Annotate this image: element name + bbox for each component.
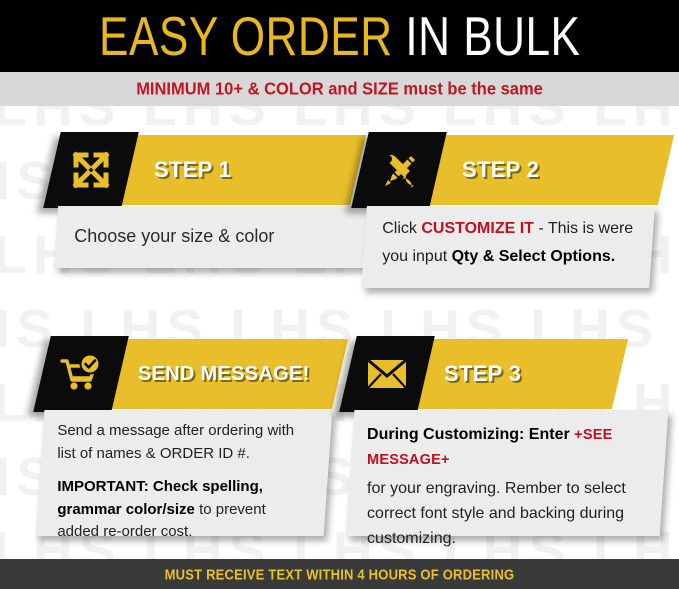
wrench-pencil-icon [360, 132, 438, 208]
text-segment: Send a message after ordering with list … [57, 422, 294, 462]
card-step3-body: During Customizing: Enter +SEE MESSAGE+ … [346, 410, 669, 536]
page-title-gold: EASY ORDER [99, 5, 393, 66]
card-send-message-header-bar: SEND MESSAGE! [92, 339, 348, 409]
envelope-icon [348, 336, 426, 412]
card-step3-header: STEP 3 [348, 336, 658, 412]
card-send-message-body-text: Send a message after ordering with list … [39, 410, 327, 556]
cart-check-icon [42, 336, 120, 412]
card-send-message-line-2: IMPORTANT: Check spelling, grammar color… [57, 476, 311, 544]
footer-bar: MUST RECEIVE TEXT WITHIN 4 HOURS OF ORDE… [0, 559, 679, 589]
card-step2-header: STEP 2 [360, 132, 660, 208]
card-step1-header: STEP 1 [52, 132, 352, 208]
card-step3-body-text: During Customizing: Enter +SEE MESSAGE+ … [349, 410, 663, 563]
card-step2-body-text: Click CUSTOMIZE IT - This is were you in… [364, 206, 652, 282]
card-send-message-icon-box [33, 336, 129, 412]
card-step3-line-2: for your engraving. Rember to select cor… [367, 476, 647, 552]
card-step1-body: Choose your size & color [54, 206, 368, 268]
text-segment-emphasis: color/size [126, 501, 195, 518]
subtitle-bar: MINIMUM 10+ & COLOR and SIZE must be the… [0, 72, 679, 106]
card-step3-icon-box [339, 336, 435, 412]
text-segment: Choose your size & color [74, 226, 274, 246]
page-title-white: IN BULK [405, 5, 580, 66]
card-step1-body-text: Choose your size & color [56, 206, 366, 261]
footer-text: MUST RECEIVE TEXT WITHIN 4 HOURS OF ORDE… [165, 566, 515, 583]
text-segment: - This is were [534, 220, 633, 237]
card-send-message-body: Send a message after ordering with list … [36, 410, 333, 536]
text-segment-emphasis: CUSTOMIZE IT [421, 220, 534, 237]
text-segment: for your engraving. Rember to select cor… [367, 480, 626, 548]
expand-arrows-icon [52, 132, 130, 208]
title-banner: EASY ORDER IN BULK [0, 0, 679, 72]
text-segment: Click [382, 220, 421, 237]
card-send-message-header-label: SEND MESSAGE! [138, 363, 310, 386]
card-step2-header-bar: STEP 2 [410, 135, 674, 205]
card-step2-body: Click CUSTOMIZE IT - This is were you in… [361, 206, 655, 288]
text-segment-emphasis: IMPORTANT: [57, 478, 148, 495]
card-step1-header-label: STEP 1 [154, 157, 231, 183]
card-step2: STEP 2 Click C [360, 132, 660, 288]
card-step3: STEP 3 During Customizing: Enter +SEE ME… [348, 336, 658, 536]
text-segment-emphasis: During Customizing: Enter [367, 426, 574, 443]
subtitle-text: MINIMUM 10+ & COLOR and SIZE must be the… [136, 79, 543, 99]
card-step2-line-1: Click CUSTOMIZE IT - This is were [382, 217, 636, 241]
text-segment: you input [382, 248, 451, 265]
text-segment-emphasis: Qty & Select Options. [452, 248, 616, 265]
card-send-message-line-1: Send a message after ordering with list … [57, 420, 311, 465]
card-step1: STEP 1 Choose your size & color [52, 132, 352, 268]
page-title: EASY ORDER IN BULK [99, 4, 580, 68]
card-step2-line-2: you input Qty & Select Options. [382, 245, 636, 269]
card-step1-icon-box [43, 132, 139, 208]
card-step3-line-1: During Customizing: Enter +SEE MESSAGE+ [367, 422, 647, 473]
card-step3-header-label: STEP 3 [444, 361, 521, 387]
card-step2-icon-box [351, 132, 447, 208]
card-send-message: SEND MESSAGE! Send a message after order… [42, 336, 342, 536]
card-step1-header-bar: STEP 1 [102, 135, 366, 205]
card-step2-header-label: STEP 2 [462, 157, 539, 183]
card-send-message-header: SEND MESSAGE! [42, 336, 342, 412]
card-step3-header-bar: STEP 3 [398, 339, 628, 409]
card-step1-line-1: Choose your size & color [74, 223, 350, 249]
